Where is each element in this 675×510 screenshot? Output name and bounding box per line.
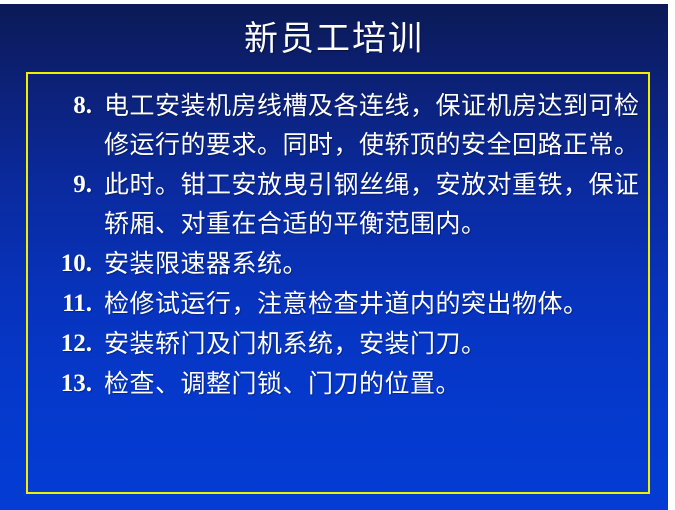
list-item: 8. 电工安装机房线槽及各连线，保证机房达到可检修运行的要求。同时，使轿顶的安全… [36, 86, 640, 164]
list-item-text: 电工安装机房线槽及各连线，保证机房达到可检修运行的要求。同时，使轿顶的安全回路正… [104, 86, 640, 164]
content-border-box: 8. 电工安装机房线槽及各连线，保证机房达到可检修运行的要求。同时，使轿顶的安全… [26, 72, 650, 494]
list-item-number: 8. [36, 86, 92, 125]
list-item-number: 10. [36, 244, 92, 283]
list-item: 12. 安装轿门及门机系统，安装门刀。 [36, 324, 640, 363]
list-item-number: 9. [36, 165, 92, 204]
list-item: 13. 检查、调整门锁、门刀的位置。 [36, 364, 640, 403]
list-item-text: 安装限速器系统。 [104, 244, 640, 283]
list-item-text: 检查、调整门锁、门刀的位置。 [104, 364, 640, 403]
page-title: 新员工培训 [244, 11, 424, 60]
list-item-text: 检修试运行，注意检查井道内的突出物体。 [104, 284, 640, 323]
list-item-text: 此时。钳工安放曳引钢丝绳，安放对重铁，保证轿厢、对重在合适的平衡范围内。 [104, 165, 640, 243]
list-item-number: 12. [36, 324, 92, 363]
list-item-number: 11. [36, 284, 92, 323]
list-item-text: 安装轿门及门机系统，安装门刀。 [104, 324, 640, 363]
numbered-step-list: 8. 电工安装机房线槽及各连线，保证机房达到可检修运行的要求。同时，使轿顶的安全… [36, 86, 640, 403]
list-item: 10. 安装限速器系统。 [36, 244, 640, 283]
slide-title-bar: 新员工培训 [0, 4, 668, 66]
presentation-slide: 新员工培训 8. 电工安装机房线槽及各连线，保证机房达到可检修运行的要求。同时，… [0, 4, 668, 510]
list-item-number: 13. [36, 364, 92, 403]
list-item: 11. 检修试运行，注意检查井道内的突出物体。 [36, 284, 640, 323]
list-item: 9. 此时。钳工安放曳引钢丝绳，安放对重铁，保证轿厢、对重在合适的平衡范围内。 [36, 165, 640, 243]
